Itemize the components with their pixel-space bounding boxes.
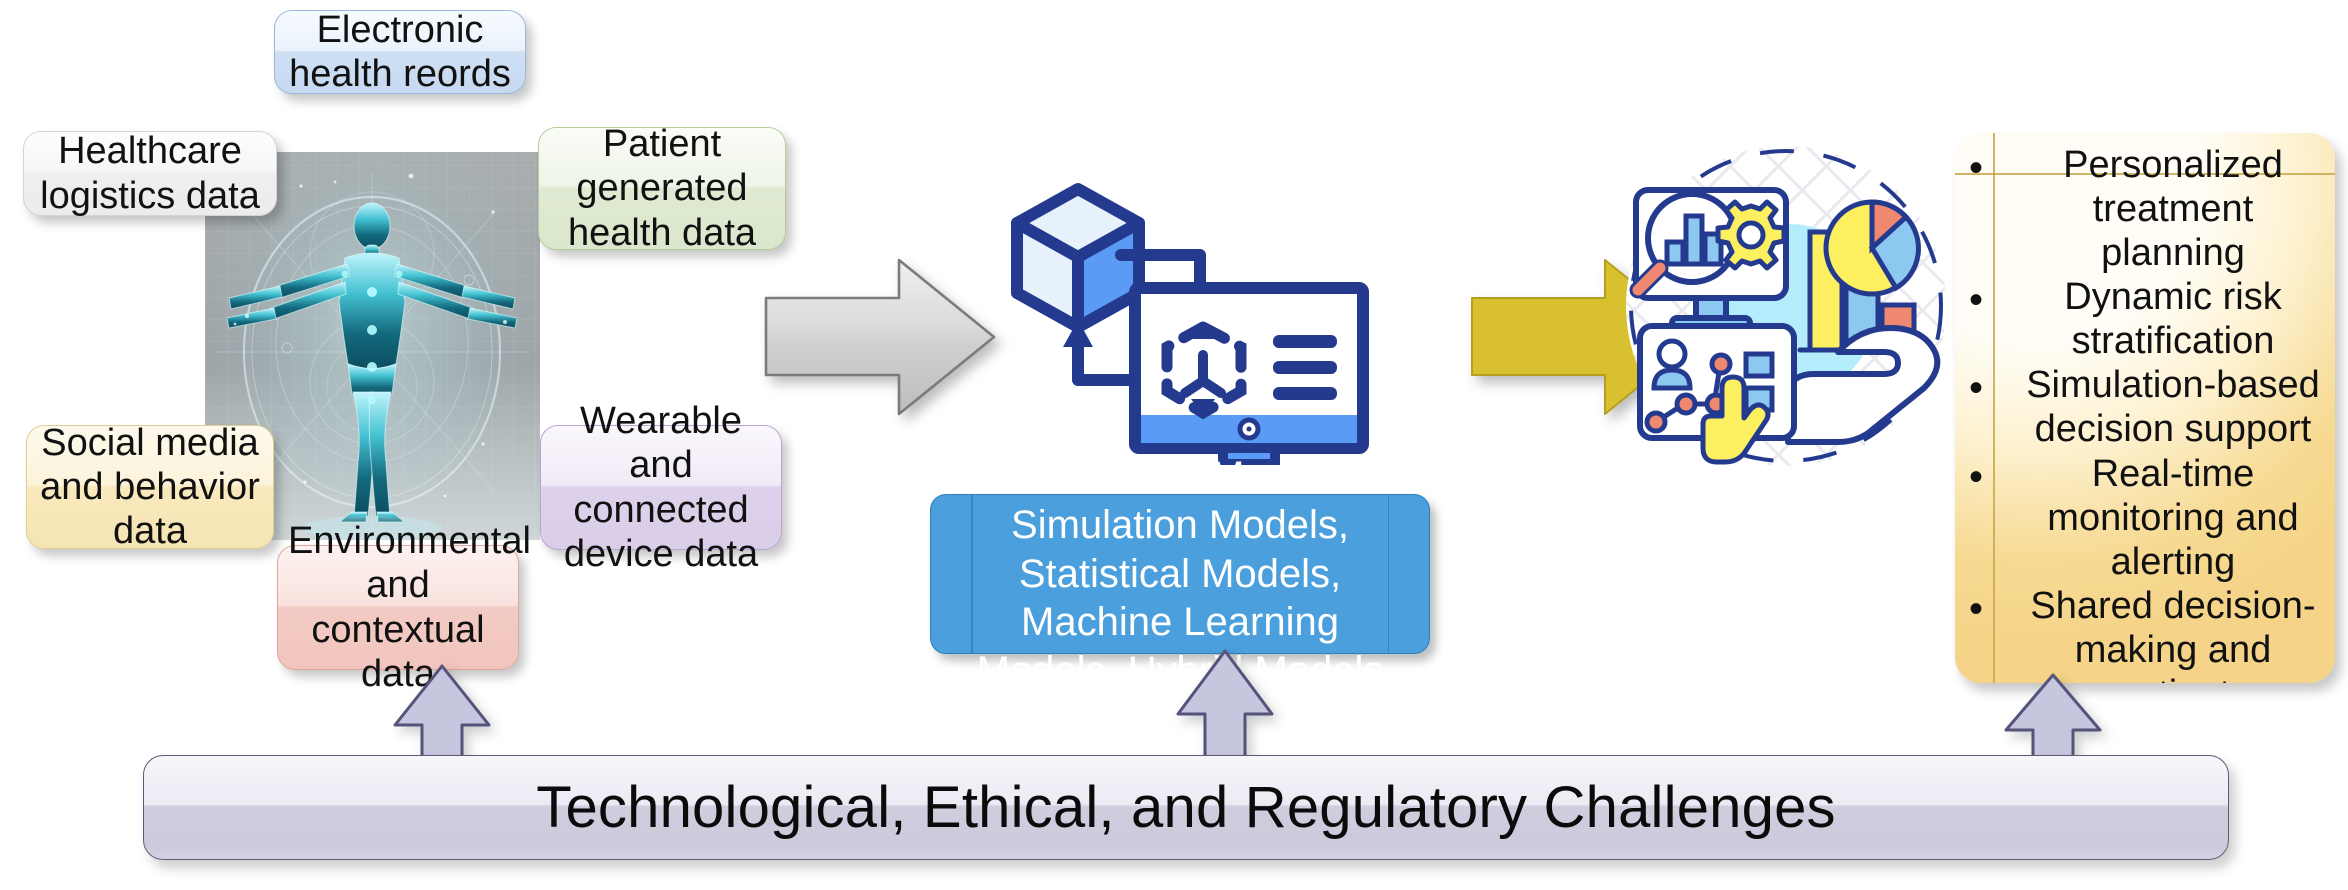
outcomes-list: • Personalized treatment planning • Dyna…	[2025, 143, 2321, 683]
outcome-item: • Personalized treatment planning	[2025, 143, 2321, 275]
outcome-label: Personalized treatment planning	[2063, 144, 2283, 274]
data-source-box-patient[interactable]: Patient generated health data	[538, 127, 786, 250]
outcome-label: Real-time monitoring and alerting	[2047, 453, 2298, 583]
outcome-label: Shared decision-making and patient engag…	[2030, 585, 2315, 683]
list-lines-icon	[1273, 335, 1337, 400]
data-source-label-logistics: Healthcare logistics data	[34, 129, 266, 217]
bullet-icon: •	[1969, 145, 1983, 191]
data-source-label-ehr: Electronic health reords	[285, 8, 515, 96]
models-box[interactable]: Mechanics Models, Simulation Models, Sta…	[930, 494, 1430, 654]
outcome-item: • Simulation-based decision support	[2025, 363, 2321, 451]
data-source-box-environmental[interactable]: Environmental and contextual data	[277, 545, 519, 670]
outcomes-panel[interactable]: • Personalized treatment planning • Dyna…	[1955, 133, 2335, 683]
outcome-item: • Shared decision-making and patient eng…	[2025, 584, 2321, 683]
data-source-label-social: Social media and behavior data	[37, 421, 263, 553]
bullet-icon: •	[1969, 365, 1983, 411]
outcome-item: • Real-time monitoring and alerting	[2025, 452, 2321, 584]
bullet-icon: •	[1969, 454, 1983, 500]
gear-icon	[1718, 202, 1784, 268]
monitor-icon	[1135, 288, 1363, 464]
data-source-label-patient: Patient generated health data	[549, 122, 775, 254]
outcome-label: Dynamic risk stratification	[2064, 276, 2281, 362]
3d-model-on-monitor-icon	[995, 175, 1375, 465]
models-box-label: Mechanics Models, Simulation Models, Sta…	[931, 495, 1429, 653]
data-source-box-wearable[interactable]: Wearable and connected device data	[540, 425, 782, 550]
data-source-box-logistics[interactable]: Healthcare logistics data	[23, 131, 277, 216]
diagram-canvas: Electronic health reords Healthcare logi…	[0, 0, 2348, 890]
outcome-item: • Dynamic risk stratification	[2025, 275, 2321, 363]
bullet-icon: •	[1969, 586, 1983, 632]
data-source-label-wearable: Wearable and connected device data	[551, 399, 771, 575]
panel-vertical-rule	[1993, 133, 1995, 683]
outcome-label: Simulation-based decision support	[2026, 364, 2320, 450]
data-source-box-social[interactable]: Social media and behavior data	[26, 425, 274, 549]
bullet-icon: •	[1969, 277, 1983, 323]
grey-right-arrow-icon	[762, 255, 1002, 420]
data-source-box-ehr[interactable]: Electronic health reords	[274, 10, 526, 94]
challenges-label: Technological, Ethical, and Regulatory C…	[536, 774, 1835, 841]
data-analytics-in-hand-icon	[1610, 140, 1970, 470]
challenges-bar[interactable]: Technological, Ethical, and Regulatory C…	[143, 755, 2229, 860]
